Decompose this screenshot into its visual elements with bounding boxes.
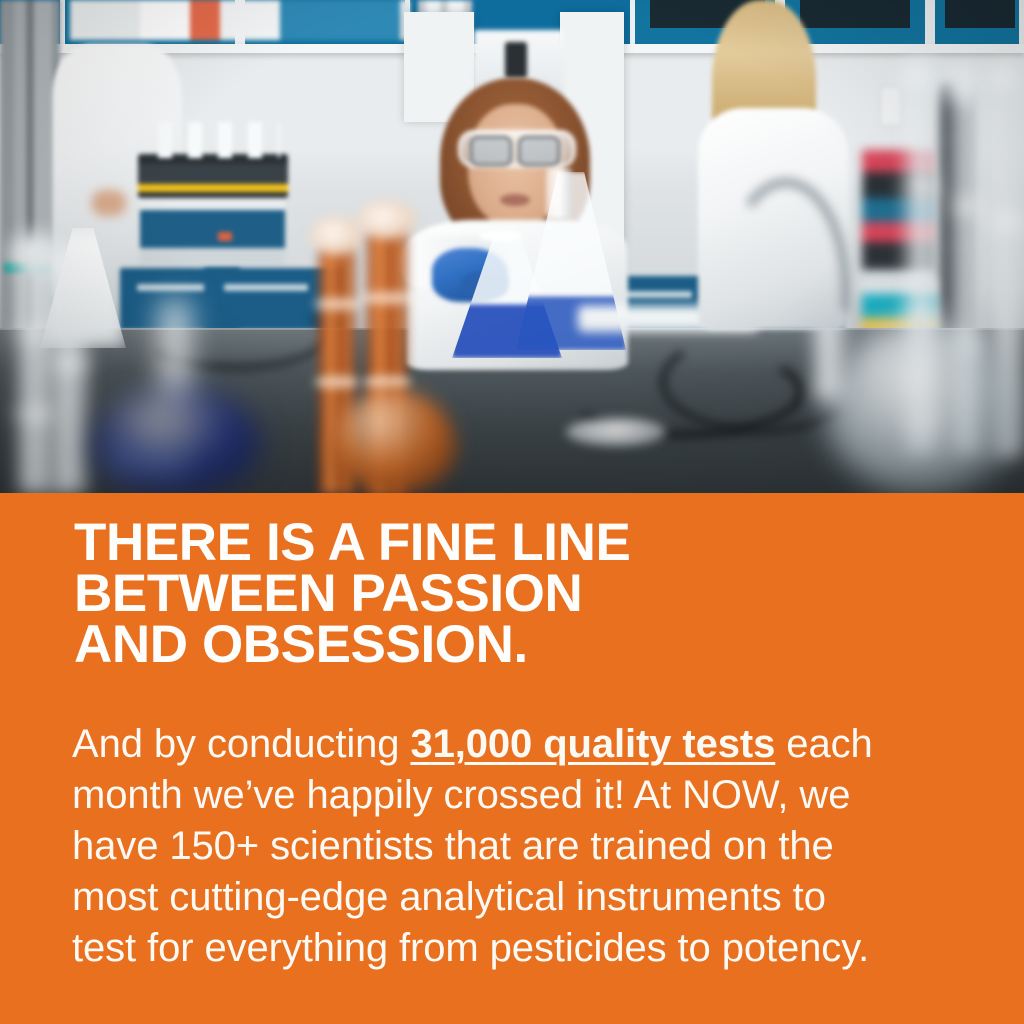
body-line-4: most cutting-edge analytical instruments…: [72, 872, 952, 923]
body-text: And by conducting: [72, 722, 410, 766]
highlight-quality-tests: 31,000 quality tests: [410, 722, 775, 766]
headline-line-1: THERE IS A FINE LINE: [74, 517, 974, 568]
body-line-1: And by conducting 31,000 quality tests e…: [72, 719, 952, 770]
orange-text-panel: THERE IS A FINE LINE BETWEEN PASSION AND…: [0, 493, 1024, 1024]
body-line-3: have 150+ scientists that are trained on…: [72, 821, 952, 872]
headline-line-2: BETWEEN PASSION: [74, 568, 974, 619]
headline-line-3: AND OBSESSION.: [74, 619, 974, 670]
social-graphic: 500: [0, 0, 1024, 1024]
body-line-5: test for everything from pesticides to p…: [72, 923, 952, 974]
body-copy: And by conducting 31,000 quality tests e…: [72, 719, 952, 974]
body-line-2: month we’ve happily crossed it! At NOW, …: [72, 770, 952, 821]
lab-photo: 500: [0, 0, 1024, 493]
headline: THERE IS A FINE LINE BETWEEN PASSION AND…: [74, 517, 974, 670]
photo-vignette: [0, 0, 1024, 493]
body-text: each: [775, 722, 872, 766]
